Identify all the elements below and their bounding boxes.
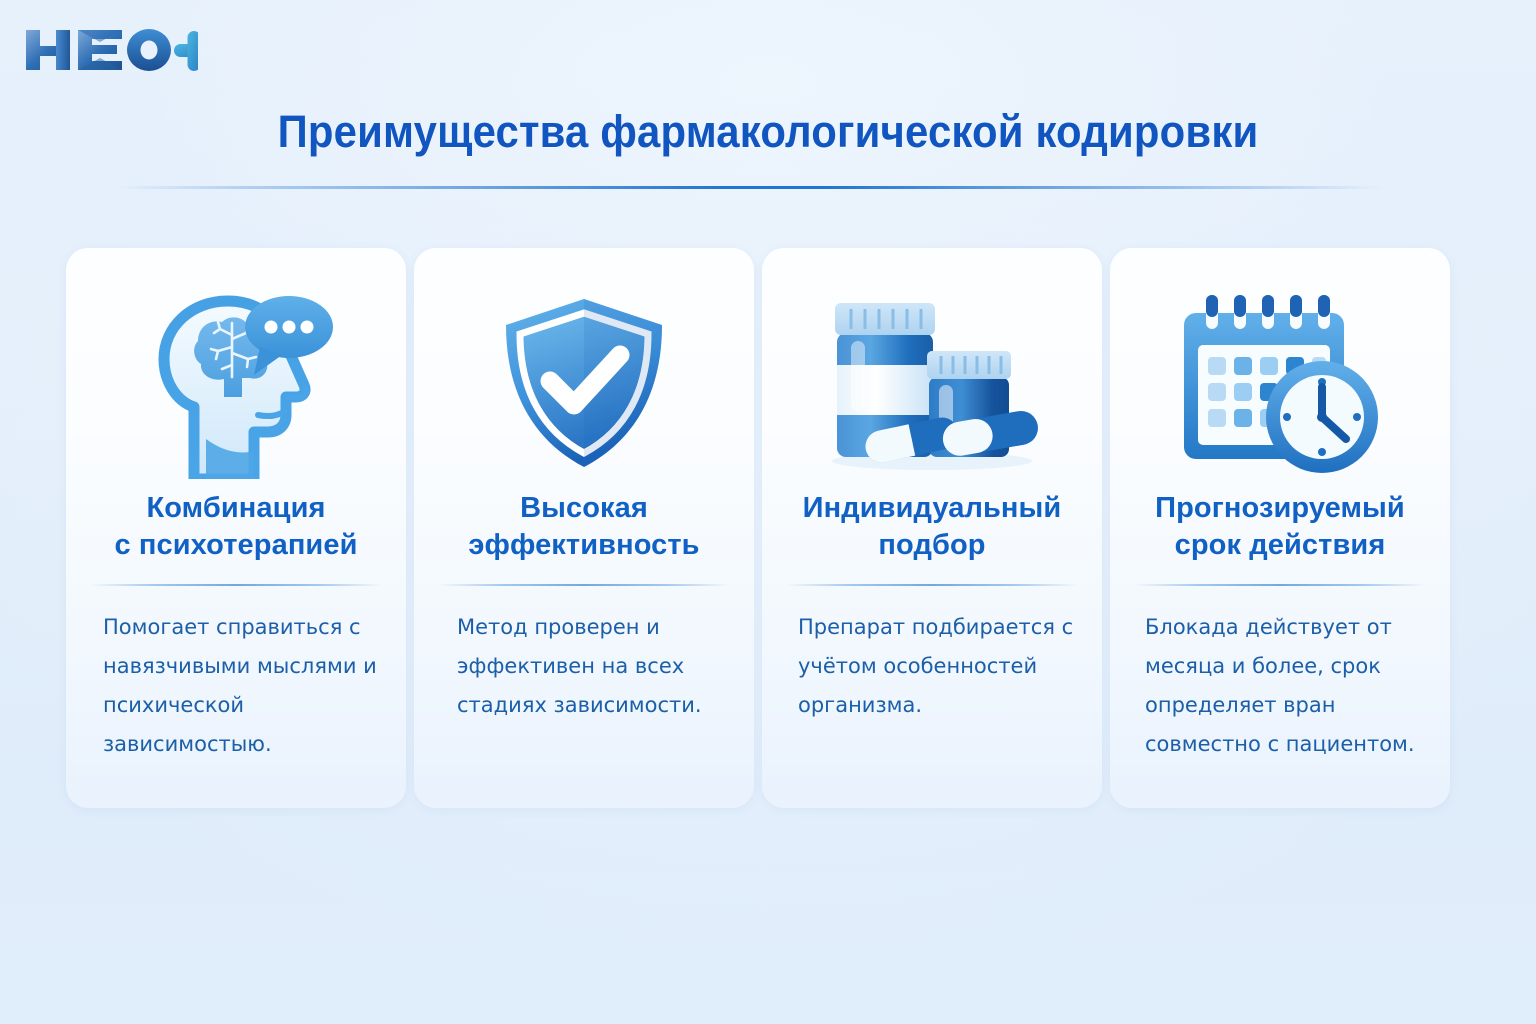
- card-title-line1: Комбинация: [146, 492, 325, 524]
- card-divider: [90, 584, 382, 586]
- benefit-card-combination[interactable]: Комбинация с психотерапией Помогает спра…: [66, 248, 406, 808]
- card-title: Индивидуальный подбор: [782, 490, 1082, 564]
- benefit-card-individual-selection[interactable]: Индивидуальный подбор Препарат подбирает…: [762, 248, 1102, 808]
- card-title-line2: срок действия: [1175, 529, 1386, 561]
- card-body-text: Помогает справиться с навязчивыми мыслям…: [69, 608, 403, 763]
- card-title: Комбинация с психотерапией: [86, 490, 386, 564]
- card-title-line1: Высокая: [520, 492, 648, 524]
- benefit-card-efficiency[interactable]: Высокая эффективность Метод проверен и э…: [414, 248, 754, 808]
- card-body-text: Блокада действует от месяца и более, сро…: [1115, 608, 1445, 763]
- card-divider: [786, 584, 1078, 586]
- card-title-line1: Прогнозируемый: [1155, 492, 1405, 524]
- benefit-card-predictable-duration[interactable]: Прогнозируемый срок действия Блокада дей…: [1110, 248, 1450, 808]
- benefits-card-list: Комбинация с психотерапией Помогает спра…: [66, 248, 1470, 808]
- page-title: Преимущества фармакологической кодировки: [54, 106, 1482, 158]
- card-title: Высокая эффективность: [434, 490, 734, 564]
- calendar-clock-icon: [1170, 284, 1390, 484]
- card-divider: [438, 584, 730, 586]
- pill-bottles-capsules-icon: [817, 284, 1047, 484]
- card-title-line2: с психотерапией: [114, 529, 357, 561]
- title-divider: [115, 186, 1385, 189]
- card-divider: [1134, 584, 1426, 586]
- card-body-text: Метод проверен и эффективен на всех стад…: [414, 608, 754, 725]
- card-title-line2: подбор: [878, 529, 985, 561]
- card-body-text: Препарат подбирается с учётом особенност…: [766, 608, 1098, 725]
- shield-check-icon: [494, 284, 674, 484]
- card-title: Прогнозируемый срок действия: [1130, 490, 1430, 564]
- card-title-line1: Индивидуальный: [803, 492, 1062, 524]
- infographic-canvas: Преимущества фармакологической кодировки: [0, 0, 1536, 1024]
- neo-plus-logo: [18, 20, 198, 78]
- card-title-line2: эффективность: [468, 529, 699, 561]
- head-brain-speech-bubble-icon: [136, 284, 336, 484]
